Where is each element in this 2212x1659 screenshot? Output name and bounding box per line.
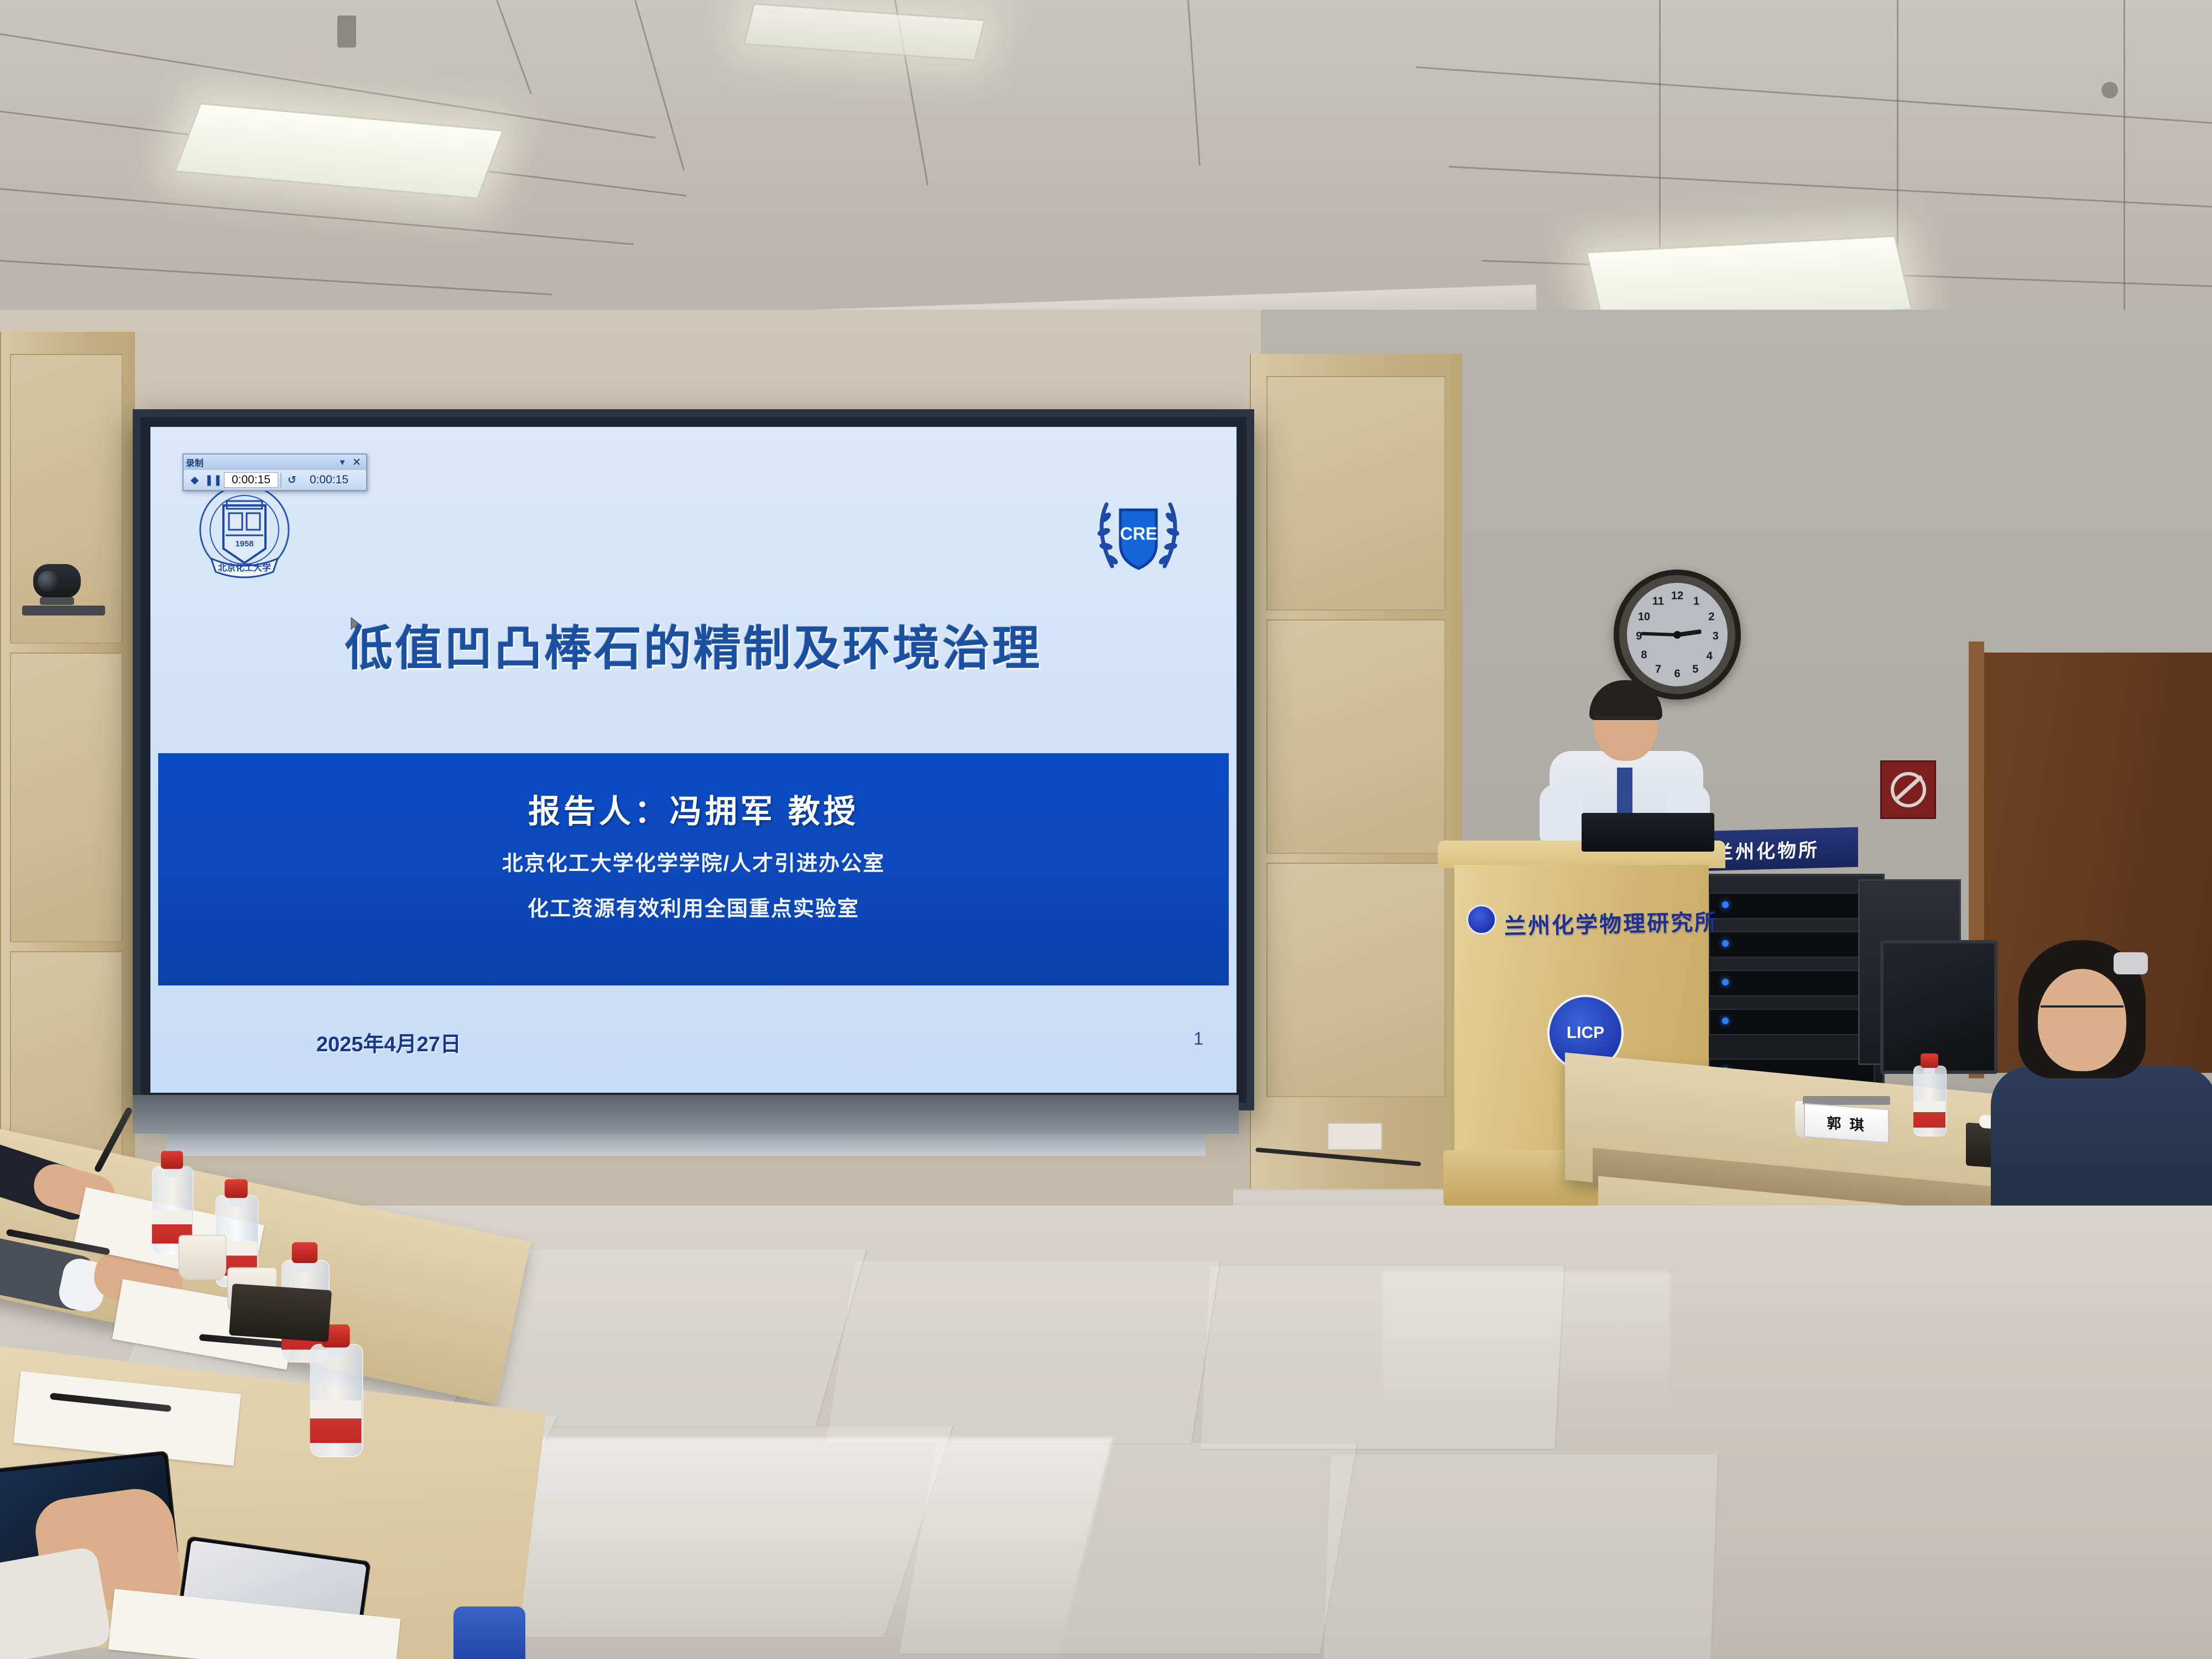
tissue-box	[229, 1284, 332, 1342]
presentation-slide: 1958 北京化工大学	[150, 427, 1237, 1093]
pause-icon[interactable]: ❚❚	[205, 472, 222, 488]
slide-affiliation-1: 北京化工大学化学学院/人才引进办公室	[158, 846, 1229, 877]
wood-panel-f	[1266, 863, 1446, 1097]
clock-number: 5	[1692, 664, 1698, 676]
ceiling-smoke-detector	[337, 15, 356, 48]
photographer-sleeve	[0, 1546, 112, 1659]
clock-number: 7	[1655, 664, 1661, 676]
slide-affiliation-2: 化工资源有效利用全国重点实验室	[158, 891, 1229, 922]
placard-name: 郭 琪	[1827, 1112, 1866, 1135]
clock-number: 3	[1713, 630, 1719, 643]
recorder-title-label: 录制	[186, 456, 204, 469]
recorder-controls: ◆ ❚❚ 0:00:15 ↺ 0:00:15	[184, 470, 366, 490]
podium-institute-label: 兰州化学物理研究所	[1504, 904, 1718, 941]
camera-mount-bracket	[22, 606, 105, 615]
svg-text:CRE: CRE	[1120, 524, 1157, 544]
slide-title: 低值凹凸棒石的精制及环境治理	[150, 609, 1237, 679]
wall-camera	[33, 564, 94, 603]
clock-minute-hand	[1641, 632, 1677, 636]
wood-panel-b	[10, 653, 123, 942]
clock-number: 10	[1638, 611, 1650, 623]
next-slide-icon[interactable]: ◆	[186, 472, 203, 488]
divider	[280, 473, 281, 487]
podium-laptop	[1582, 813, 1714, 852]
svg-text:北京化工大学: 北京化工大学	[218, 562, 271, 573]
slide-page-number: 1	[1193, 1029, 1203, 1049]
wood-panel-d	[1266, 376, 1446, 611]
buct-crest-logo: 1958 北京化工大学	[195, 482, 294, 585]
hair-clip	[2114, 952, 2148, 974]
paper-cup	[179, 1235, 226, 1280]
clock-number: 1	[1693, 595, 1699, 608]
total-elapsed-time: 0:00:15	[302, 473, 356, 487]
water-bottle	[1913, 1053, 1945, 1136]
slide-elapsed-time: 0:00:15	[224, 472, 278, 488]
name-placard: 郭 琪	[1804, 1103, 1889, 1144]
clock-number: 12	[1671, 590, 1683, 603]
slide-date: 2025年4月27日	[316, 1027, 461, 1057]
svg-text:1958: 1958	[235, 539, 253, 549]
close-icon[interactable]: ✕	[349, 456, 364, 469]
glasses-icon	[2041, 1005, 2124, 1022]
screen-base-trim	[166, 1134, 1206, 1156]
cas-emblem-icon	[1467, 905, 1496, 935]
conference-room-scene: 12 1 2 3 4 5 6 7 8 9 10 11	[0, 0, 2212, 1659]
slide-presenter: 报告人：冯拥军 教授	[158, 785, 1229, 832]
clock-number: 11	[1652, 595, 1664, 608]
clock-number: 6	[1674, 667, 1680, 680]
slide-blue-band: 报告人：冯拥军 教授 北京化工大学化学学院/人才引进办公室 化工资源有效利用全国…	[158, 753, 1229, 985]
water-bottle	[310, 1324, 362, 1457]
clock-number: 4	[1707, 650, 1713, 662]
wall-power-socket	[1327, 1123, 1383, 1150]
clock-face: 12 1 2 3 4 5 6 7 8 9 10 11	[1627, 583, 1728, 686]
blue-object	[453, 1606, 525, 1659]
screen-bottom-shadow	[133, 1095, 1239, 1134]
powerpoint-recording-toolbar[interactable]: 录制 ▼ ✕ ◆ ❚❚ 0:00:15 ↺ 0:00:15	[182, 453, 367, 491]
recorder-titlebar: 录制 ▼ ✕	[184, 455, 366, 470]
repeat-icon[interactable]: ↺	[284, 472, 300, 488]
cre-shield-logo: CRE	[1090, 489, 1187, 583]
ceiling-sprinkler	[2101, 82, 2118, 98]
wood-panel-e	[1266, 619, 1446, 854]
clock-number: 8	[1641, 649, 1647, 661]
clock-center-pin	[1673, 631, 1681, 639]
glasses-icon	[1595, 717, 1657, 730]
no-smoking-icon	[1880, 760, 1936, 819]
chevron-down-icon[interactable]: ▼	[335, 458, 349, 467]
projection-screen: 1958 北京化工大学	[133, 409, 1254, 1110]
clock-number: 2	[1708, 611, 1714, 623]
